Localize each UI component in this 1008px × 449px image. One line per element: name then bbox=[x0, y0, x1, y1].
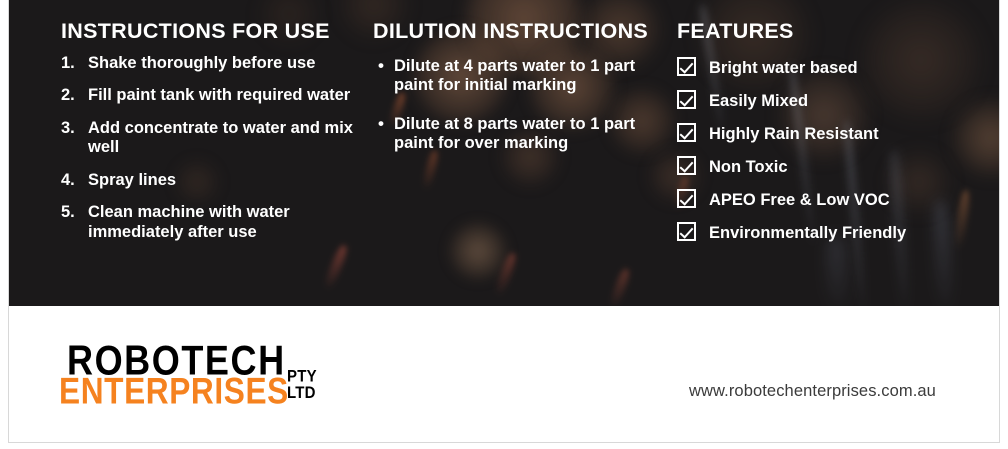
list-item: • Dilute at 8 parts water to 1 part pain… bbox=[378, 115, 668, 154]
list-item: • Dilute at 4 parts water to 1 part pain… bbox=[378, 57, 668, 96]
checked-checkbox-icon bbox=[677, 123, 696, 142]
checked-checkbox-icon bbox=[677, 189, 696, 208]
list-item: 3. Add concentrate to water and mix well bbox=[61, 119, 361, 158]
logo-suffix-ltd: LTD bbox=[287, 385, 317, 401]
list-item-label: Shake thoroughly before use bbox=[88, 54, 315, 72]
list-item: 2. Fill paint tank with required water bbox=[61, 86, 361, 105]
list-item-label: Fill paint tank with required water bbox=[88, 86, 350, 104]
list-item-number: 3. bbox=[61, 119, 75, 138]
list-item: Environmentally Friendly bbox=[677, 217, 977, 250]
list-item-label: Easily Mixed bbox=[709, 93, 808, 110]
list-item-number: 2. bbox=[61, 86, 75, 105]
checked-checkbox-icon bbox=[677, 222, 696, 241]
robotech-enterprises-logo: ROBOTECH ENTERPRISES PTY LTD bbox=[59, 338, 329, 400]
dilution-title: DILUTION INSTRUCTIONS bbox=[373, 19, 648, 44]
list-item: Non Toxic bbox=[677, 151, 977, 184]
website-url[interactable]: www.robotechenterprises.com.au bbox=[689, 382, 936, 401]
list-item-label: APEO Free & Low VOC bbox=[709, 192, 890, 209]
logo-word-enterprises: ENTERPRISES bbox=[59, 370, 289, 413]
list-item-label: Clean machine with water immediately aft… bbox=[88, 203, 290, 240]
instructions-list: 1. Shake thoroughly before use 2. Fill p… bbox=[61, 54, 361, 255]
features-title: FEATURES bbox=[677, 19, 794, 44]
footer: ROBOTECH ENTERPRISES PTY LTD www.robotec… bbox=[9, 306, 1000, 443]
product-info-card: INSTRUCTIONS FOR USE 1. Shake thoroughly… bbox=[8, 0, 1000, 443]
checked-checkbox-icon bbox=[677, 90, 696, 109]
list-item-label: Bright water based bbox=[709, 60, 858, 77]
dark-info-panel: INSTRUCTIONS FOR USE 1. Shake thoroughly… bbox=[9, 0, 1000, 306]
list-item: 4. Spray lines bbox=[61, 171, 361, 190]
list-item: APEO Free & Low VOC bbox=[677, 184, 977, 217]
instructions-title: INSTRUCTIONS FOR USE bbox=[61, 19, 330, 44]
list-item-label: Highly Rain Resistant bbox=[709, 126, 879, 143]
list-item-label: Add concentrate to water and mix well bbox=[88, 119, 353, 156]
checked-checkbox-icon bbox=[677, 57, 696, 76]
list-item: Bright water based bbox=[677, 52, 977, 85]
list-item-label: Environmentally Friendly bbox=[709, 225, 906, 242]
bullet-icon: • bbox=[378, 56, 384, 76]
list-item-label: Non Toxic bbox=[709, 159, 788, 176]
bullet-icon: • bbox=[378, 114, 384, 134]
list-item: 1. Shake thoroughly before use bbox=[61, 54, 361, 73]
logo-suffix: PTY LTD bbox=[287, 369, 317, 402]
list-item-label: Dilute at 4 parts water to 1 part paint … bbox=[394, 57, 635, 94]
list-item-number: 4. bbox=[61, 171, 75, 190]
list-item: Highly Rain Resistant bbox=[677, 118, 977, 151]
list-item: 5. Clean machine with water immediately … bbox=[61, 203, 361, 242]
checked-checkbox-icon bbox=[677, 156, 696, 175]
list-item: Easily Mixed bbox=[677, 85, 977, 118]
list-item-label: Spray lines bbox=[88, 171, 176, 189]
features-list: Bright water based Easily Mixed Highly R… bbox=[677, 52, 977, 250]
list-item-number: 1. bbox=[61, 54, 75, 73]
list-item-number: 5. bbox=[61, 203, 75, 222]
list-item-label: Dilute at 8 parts water to 1 part paint … bbox=[394, 115, 635, 152]
dilution-list: • Dilute at 4 parts water to 1 part pain… bbox=[378, 57, 668, 173]
